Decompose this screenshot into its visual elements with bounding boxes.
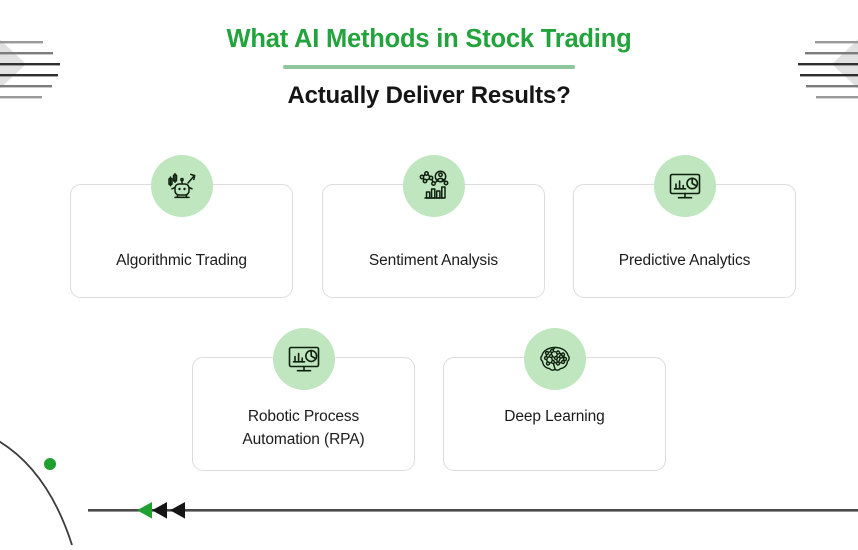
- card-label: Algorithmic Trading: [71, 250, 292, 273]
- card-label: Predictive Analytics: [574, 250, 795, 273]
- card-label: Deep Learning: [444, 406, 665, 429]
- arc-green-dot: [44, 458, 56, 470]
- arc-line: [0, 435, 72, 545]
- arrow-green: [137, 502, 152, 519]
- card-label: Sentiment Analysis: [323, 250, 544, 273]
- page-subtitle: Actually Deliver Results?: [0, 82, 858, 110]
- icon-bubble-sentiment-analysis: [403, 155, 465, 217]
- page-title: What AI Methods in Stock Trading: [0, 24, 858, 56]
- bottom-decoration: [0, 435, 858, 545]
- robot-candlestick-arrow-icon: [161, 165, 203, 207]
- monitor-analytics-icon: [664, 165, 706, 207]
- page-header: What AI Methods in Stock Trading Actuall…: [0, 24, 858, 110]
- arrow-dark-2: [170, 502, 185, 519]
- neural-brain-icon: [534, 338, 576, 380]
- sentiment-network-barchart-icon: [413, 165, 455, 207]
- icon-bubble-robotic-process-automation: [273, 328, 335, 390]
- icon-bubble-algorithmic-trading: [151, 155, 213, 217]
- icon-bubble-predictive-analytics: [654, 155, 716, 217]
- arrow-dark-1: [152, 502, 167, 519]
- title-divider: [283, 65, 575, 69]
- card-label-line-1: Robotic Process: [193, 406, 414, 429]
- arc-rule-arrows-decoration: [0, 435, 858, 545]
- monitor-piechart-icon: [283, 338, 325, 380]
- infographic-stage: What AI Methods in Stock Trading Actuall…: [0, 0, 858, 545]
- icon-bubble-deep-learning: [524, 328, 586, 390]
- horizontal-rule: [88, 509, 858, 512]
